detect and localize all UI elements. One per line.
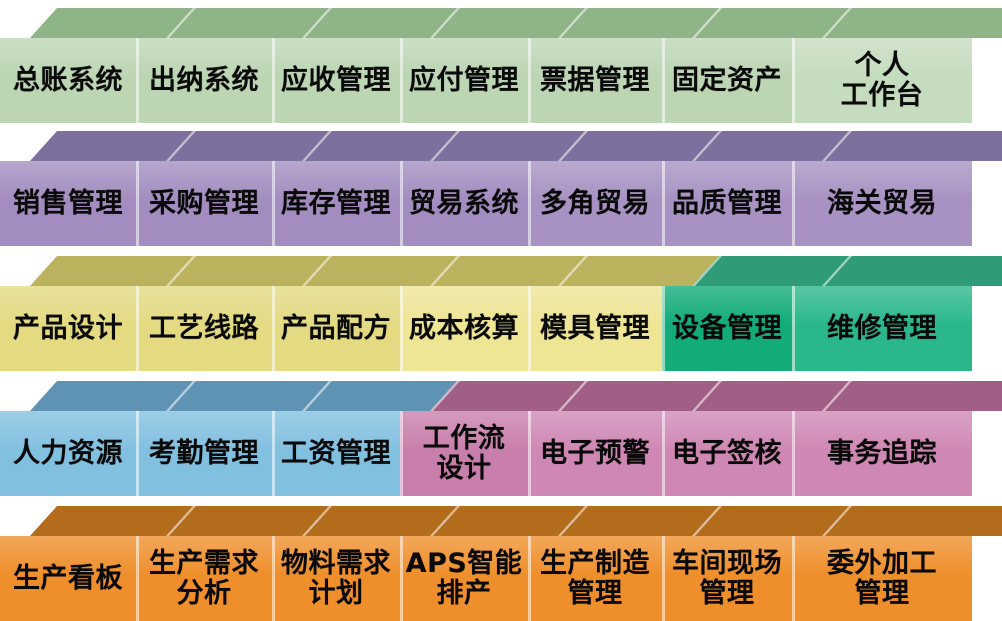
row-top-face [30, 506, 1002, 536]
module-label-line: 考勤管理 [147, 439, 261, 468]
module-label-line: 出纳系统 [147, 66, 261, 95]
module-label-line: 人力资源 [11, 439, 125, 468]
module-block-design-equipment-2[interactable]: 产品配方 [272, 286, 400, 371]
module-label: 维修管理 [825, 314, 939, 343]
module-label: 工资管理 [279, 439, 393, 468]
module-label: 生产制造管理 [538, 549, 652, 607]
module-top-face [822, 131, 1002, 161]
module-block-finance-2[interactable]: 应收管理 [272, 38, 400, 123]
module-block-production-1[interactable]: 生产需求分析 [136, 536, 272, 621]
row-front-face: 产品设计工艺线路产品配方成本核算模具管理设备管理维修管理 [0, 286, 1002, 371]
module-label-line: 管理 [670, 579, 784, 608]
module-label: 设备管理 [670, 314, 784, 343]
module-label: 模具管理 [538, 314, 652, 343]
module-block-hr-workflow-5[interactable]: 电子签核 [662, 411, 792, 496]
module-block-sales-purchase-1[interactable]: 采购管理 [136, 161, 272, 246]
module-block-hr-workflow-0[interactable]: 人力资源 [0, 411, 136, 496]
module-block-production-5[interactable]: 车间现场管理 [662, 536, 792, 621]
module-label: 出纳系统 [147, 66, 261, 95]
module-label: 工作流设计 [421, 424, 508, 482]
module-label-line: 事务追踪 [825, 439, 939, 468]
module-top-face [822, 256, 1002, 286]
module-label: 销售管理 [11, 189, 125, 218]
module-label: 海关贸易 [825, 189, 939, 218]
row-front-face: 生产看板生产需求分析物料需求计划APS智能排产生产制造管理车间现场管理委外加工管… [0, 536, 1002, 621]
module-label: 应收管理 [279, 66, 393, 95]
module-label-line: 设备管理 [670, 314, 784, 343]
module-label-line: 贸易系统 [407, 189, 521, 218]
module-label-line: 生产制造 [538, 549, 652, 578]
module-top-face [822, 8, 1002, 38]
module-label: 生产需求分析 [147, 549, 261, 607]
module-label-line: 票据管理 [538, 66, 652, 95]
row-front-face: 总账系统出纳系统应收管理应付管理票据管理固定资产个人工作台 [0, 38, 1002, 123]
module-label-line: 模具管理 [538, 314, 652, 343]
module-label-line: 分析 [147, 579, 261, 608]
module-block-design-equipment-0[interactable]: 产品设计 [0, 286, 136, 371]
module-block-sales-purchase-6[interactable]: 海关贸易 [792, 161, 972, 246]
module-label-line: 个人 [839, 51, 926, 80]
module-block-design-equipment-6[interactable]: 维修管理 [792, 286, 972, 371]
module-label-line: 品质管理 [670, 189, 784, 218]
row-top-face [30, 381, 1002, 411]
module-top-face [822, 506, 1002, 536]
module-label: 事务追踪 [825, 439, 939, 468]
module-label: 采购管理 [147, 189, 261, 218]
module-block-hr-workflow-3[interactable]: 工作流设计 [400, 411, 528, 496]
module-label-line: 委外加工 [825, 549, 939, 578]
module-label-line: 采购管理 [147, 189, 261, 218]
module-label-line: 排产 [404, 579, 525, 608]
module-label-line: APS智能 [404, 549, 525, 578]
module-block-hr-workflow-6[interactable]: 事务追踪 [792, 411, 972, 496]
module-label: 电子预警 [538, 439, 652, 468]
module-label: 生产看板 [11, 564, 125, 593]
module-block-sales-purchase-5[interactable]: 品质管理 [662, 161, 792, 246]
module-label-line: 生产看板 [11, 564, 125, 593]
module-row-finance: 总账系统出纳系统应收管理应付管理票据管理固定资产个人工作台 [0, 8, 1002, 123]
module-block-sales-purchase-3[interactable]: 贸易系统 [400, 161, 528, 246]
module-label-line: 生产需求 [147, 549, 261, 578]
module-label-line: 固定资产 [670, 66, 784, 95]
module-label: 库存管理 [279, 189, 393, 218]
module-block-hr-workflow-1[interactable]: 考勤管理 [136, 411, 272, 496]
module-label-line: 设计 [421, 454, 508, 483]
module-label-line: 工艺线路 [147, 314, 261, 343]
module-label-line: 销售管理 [11, 189, 125, 218]
module-label: 工艺线路 [147, 314, 261, 343]
module-label-line: 成本核算 [407, 314, 521, 343]
module-label: 产品设计 [11, 314, 125, 343]
module-block-design-equipment-4[interactable]: 模具管理 [528, 286, 662, 371]
module-row-sales-purchase: 销售管理采购管理库存管理贸易系统多角贸易品质管理海关贸易 [0, 131, 1002, 246]
module-label-line: 维修管理 [825, 314, 939, 343]
row-front-face: 销售管理采购管理库存管理贸易系统多角贸易品质管理海关贸易 [0, 161, 1002, 246]
module-label: 贸易系统 [407, 189, 521, 218]
module-label-line: 物料需求 [279, 549, 393, 578]
module-label: 应付管理 [407, 66, 521, 95]
module-block-production-2[interactable]: 物料需求计划 [272, 536, 400, 621]
module-label-line: 应付管理 [407, 66, 521, 95]
module-label-line: 库存管理 [279, 189, 393, 218]
module-label: 考勤管理 [147, 439, 261, 468]
row-top-face [30, 131, 1002, 161]
module-label: 委外加工管理 [825, 549, 939, 607]
module-block-finance-6[interactable]: 个人工作台 [792, 38, 972, 123]
module-label-line: 电子签核 [670, 439, 784, 468]
module-label-line: 产品配方 [279, 314, 393, 343]
module-block-production-0[interactable]: 生产看板 [0, 536, 136, 621]
row-front-face: 人力资源考勤管理工资管理工作流设计电子预警电子签核事务追踪 [0, 411, 1002, 496]
module-block-design-equipment-5[interactable]: 设备管理 [662, 286, 792, 371]
module-label-line: 管理 [538, 579, 652, 608]
module-block-sales-purchase-2[interactable]: 库存管理 [272, 161, 400, 246]
module-block-production-6[interactable]: 委外加工管理 [792, 536, 972, 621]
module-block-hr-workflow-2[interactable]: 工资管理 [272, 411, 400, 496]
module-block-finance-4[interactable]: 票据管理 [528, 38, 662, 123]
module-block-finance-1[interactable]: 出纳系统 [136, 38, 272, 123]
module-row-production: 生产看板生产需求分析物料需求计划APS智能排产生产制造管理车间现场管理委外加工管… [0, 506, 1002, 621]
module-map-diagram: 总账系统出纳系统应收管理应付管理票据管理固定资产个人工作台销售管理采购管理库存管… [0, 0, 1002, 621]
module-label-line: 工作台 [839, 81, 926, 110]
module-block-production-3[interactable]: APS智能排产 [400, 536, 528, 621]
module-label-line: 多角贸易 [538, 189, 652, 218]
module-block-finance-0[interactable]: 总账系统 [0, 38, 136, 123]
module-label: 人力资源 [11, 439, 125, 468]
module-block-sales-purchase-4[interactable]: 多角贸易 [528, 161, 662, 246]
module-label: 产品配方 [279, 314, 393, 343]
module-block-production-4[interactable]: 生产制造管理 [528, 536, 662, 621]
module-label: 票据管理 [538, 66, 652, 95]
module-label: 电子签核 [670, 439, 784, 468]
module-label: 物料需求计划 [279, 549, 393, 607]
module-label-line: 车间现场 [670, 549, 784, 578]
row-top-face [30, 256, 1002, 286]
module-label-line: 总账系统 [11, 66, 125, 95]
module-label-line: 电子预警 [538, 439, 652, 468]
module-label-line: 工资管理 [279, 439, 393, 468]
module-row-design-equipment: 产品设计工艺线路产品配方成本核算模具管理设备管理维修管理 [0, 256, 1002, 371]
module-row-hr-workflow: 人力资源考勤管理工资管理工作流设计电子预警电子签核事务追踪 [0, 381, 1002, 496]
module-label-line: 海关贸易 [825, 189, 939, 218]
module-label: 总账系统 [11, 66, 125, 95]
module-block-hr-workflow-4[interactable]: 电子预警 [528, 411, 662, 496]
module-label-line: 应收管理 [279, 66, 393, 95]
module-top-face [822, 381, 1002, 411]
module-label: APS智能排产 [404, 549, 525, 607]
module-label: 个人工作台 [839, 51, 926, 109]
module-block-finance-5[interactable]: 固定资产 [662, 38, 792, 123]
row-top-face [30, 8, 1002, 38]
module-label: 车间现场管理 [670, 549, 784, 607]
module-label: 成本核算 [407, 314, 521, 343]
module-block-sales-purchase-0[interactable]: 销售管理 [0, 161, 136, 246]
module-label: 多角贸易 [538, 189, 652, 218]
module-block-design-equipment-1[interactable]: 工艺线路 [136, 286, 272, 371]
module-block-finance-3[interactable]: 应付管理 [400, 38, 528, 123]
module-block-design-equipment-3[interactable]: 成本核算 [400, 286, 528, 371]
module-label-line: 管理 [825, 579, 939, 608]
module-label: 固定资产 [670, 66, 784, 95]
module-label-line: 计划 [279, 579, 393, 608]
module-label-line: 工作流 [421, 424, 508, 453]
module-label-line: 产品设计 [11, 314, 125, 343]
module-label: 品质管理 [670, 189, 784, 218]
